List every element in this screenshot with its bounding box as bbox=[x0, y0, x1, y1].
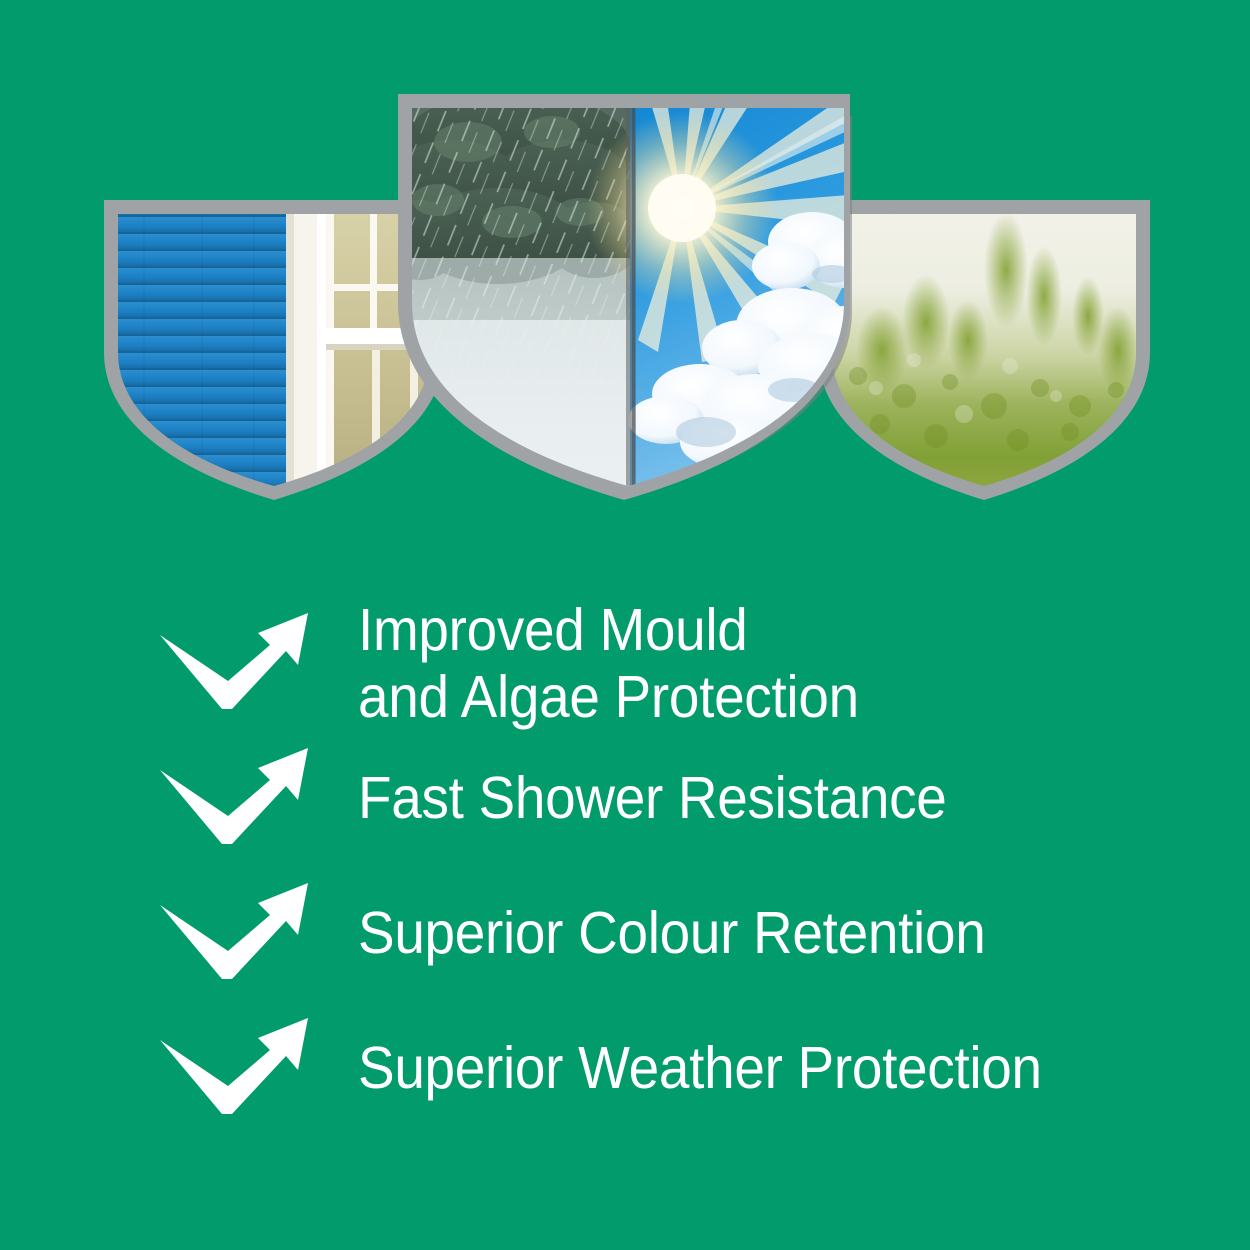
feature-label: Superior Weather Protection bbox=[358, 1035, 1042, 1102]
shield-group bbox=[0, 0, 1250, 540]
shield-algae-growth bbox=[818, 200, 1150, 500]
shield-image-weather bbox=[354, 50, 892, 550]
shield-image-masonry bbox=[104, 200, 444, 500]
feature-row: Superior Colour Retention bbox=[0, 866, 1250, 1001]
promotional-poster: Improved Mould and Algae Protection Fast… bbox=[0, 0, 1250, 1250]
check-arrow-icon bbox=[158, 874, 353, 994]
check-arrow-icon bbox=[158, 1009, 353, 1129]
check-arrow-icon bbox=[158, 739, 353, 859]
feature-label: Fast Shower Resistance bbox=[358, 765, 947, 832]
check-arrow-icon bbox=[158, 604, 353, 724]
feature-label: Improved Mould and Algae Protection bbox=[358, 597, 859, 730]
feature-label: Superior Colour Retention bbox=[358, 900, 985, 967]
shield-image-algae bbox=[818, 200, 1150, 500]
feature-list: Improved Mould and Algae Protection Fast… bbox=[0, 596, 1250, 1136]
feature-row: Superior Weather Protection bbox=[0, 1001, 1250, 1136]
shield-rain-and-sun bbox=[394, 90, 862, 500]
feature-row: Improved Mould and Algae Protection bbox=[0, 596, 1250, 731]
feature-row: Fast Shower Resistance bbox=[0, 731, 1250, 866]
shield-masonry-window bbox=[104, 200, 444, 500]
